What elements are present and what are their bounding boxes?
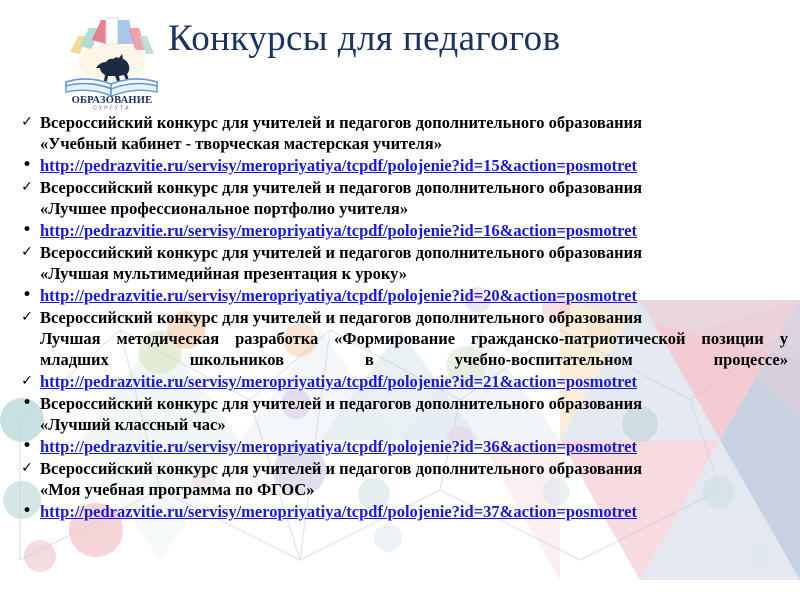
svg-text:ОБРАЗОВАНИЕ: ОБРАЗОВАНИЕ xyxy=(72,95,153,106)
dot-bullet-icon: • xyxy=(14,155,40,176)
competition-entry: ✓ Всероссийский конкурс для учителей и п… xyxy=(0,242,800,284)
competition-title: Всероссийский конкурс для учителей и пед… xyxy=(40,177,788,198)
checkmark-bullet-icon: ✓ xyxy=(14,112,40,133)
competition-link-row[interactable]: • http://pedrazvitie.ru/servisy/meropriy… xyxy=(0,436,800,457)
checkmark-bullet-icon: ✓ xyxy=(14,307,40,328)
slide-header: ОБРАЗОВАНИЕ СУРГУТА Конкурсы для педагог… xyxy=(0,0,800,112)
competition-title: Всероссийский конкурс для учителей и пед… xyxy=(40,458,788,479)
competition-list: ✓ Всероссийский конкурс для учителей и п… xyxy=(0,112,800,523)
dot-bullet-icon: • xyxy=(14,436,40,457)
competition-subtitle: «Лучший классный час» xyxy=(40,414,788,435)
competition-link-row[interactable]: • http://pedrazvitie.ru/servisy/meropriy… xyxy=(0,285,800,306)
slide: ОБРАЗОВАНИЕ СУРГУТА Конкурсы для педагог… xyxy=(0,0,800,600)
page-title: Конкурсы для педагогов xyxy=(168,16,768,62)
competition-link-row[interactable]: • http://pedrazvitie.ru/servisy/meropriy… xyxy=(0,155,800,176)
competition-link[interactable]: http://pedrazvitie.ru/servisy/meropriyat… xyxy=(40,220,788,241)
competition-link[interactable]: http://pedrazvitie.ru/servisy/meropriyat… xyxy=(40,436,788,457)
list-item: ✓ Всероссийский конкурс для учителей и п… xyxy=(0,307,800,392)
list-item: • Всероссийский конкурс для учителей и п… xyxy=(0,393,800,457)
competition-link[interactable]: http://pedrazvitie.ru/servisy/meropriyat… xyxy=(40,501,788,522)
competition-subtitle: Лучшая методическая разработка «Формиров… xyxy=(40,328,788,370)
competition-link-row[interactable]: • http://pedrazvitie.ru/servisy/meropriy… xyxy=(0,501,800,522)
competition-entry: ✓ Всероссийский конкурс для учителей и п… xyxy=(0,307,800,370)
competition-link-row[interactable]: ✓ http://pedrazvitie.ru/servisy/meropriy… xyxy=(0,371,800,392)
competition-link-row[interactable]: • http://pedrazvitie.ru/servisy/meropriy… xyxy=(0,220,800,241)
competition-entry: ✓ Всероссийский конкурс для учителей и п… xyxy=(0,458,800,500)
list-item: ✓ Всероссийский конкурс для учителей и п… xyxy=(0,458,800,522)
competition-subtitle: «Лучшее профессиональное портфолио учите… xyxy=(40,198,788,219)
competition-subtitle: «Учебный кабинет - творческая мастерская… xyxy=(40,133,788,154)
competition-link[interactable]: http://pedrazvitie.ru/servisy/meropriyat… xyxy=(40,155,788,176)
list-item: ✓ Всероссийский конкурс для учителей и п… xyxy=(0,242,800,306)
competition-subtitle: «Лучшая мультимедийная презентация к уро… xyxy=(40,263,788,284)
checkmark-bullet-icon: ✓ xyxy=(14,242,40,263)
checkmark-bullet-icon: ✓ xyxy=(14,458,40,479)
dot-bullet-icon: • xyxy=(14,285,40,306)
svg-text:СУРГУТА: СУРГУТА xyxy=(93,106,130,111)
competition-entry: ✓ Всероссийский конкурс для учителей и п… xyxy=(0,177,800,219)
competition-title: Всероссийский конкурс для учителей и пед… xyxy=(40,242,788,263)
dot-bullet-icon: • xyxy=(14,220,40,241)
obrazovanie-surguta-logo-icon: ОБРАЗОВАНИЕ СУРГУТА xyxy=(56,6,168,110)
competition-title: Всероссийский конкурс для учителей и пед… xyxy=(40,112,788,133)
competition-link[interactable]: http://pedrazvitie.ru/servisy/meropriyat… xyxy=(40,285,788,306)
dot-bullet-icon: • xyxy=(14,393,40,414)
list-item: ✓ Всероссийский конкурс для учителей и п… xyxy=(0,177,800,241)
dot-bullet-icon: • xyxy=(14,501,40,522)
competition-entry: ✓ Всероссийский конкурс для учителей и п… xyxy=(0,112,800,154)
list-item: ✓ Всероссийский конкурс для учителей и п… xyxy=(0,112,800,176)
checkmark-bullet-icon: ✓ xyxy=(14,177,40,198)
competition-link[interactable]: http://pedrazvitie.ru/servisy/meropriyat… xyxy=(40,371,788,392)
competition-title: Всероссийский конкурс для учителей и пед… xyxy=(40,307,788,328)
checkmark-bullet-icon: ✓ xyxy=(14,371,40,392)
competition-entry: • Всероссийский конкурс для учителей и п… xyxy=(0,393,800,435)
competition-subtitle: «Моя учебная программа по ФГОС» xyxy=(40,479,788,500)
competition-title: Всероссийский конкурс для учителей и пед… xyxy=(40,393,788,414)
